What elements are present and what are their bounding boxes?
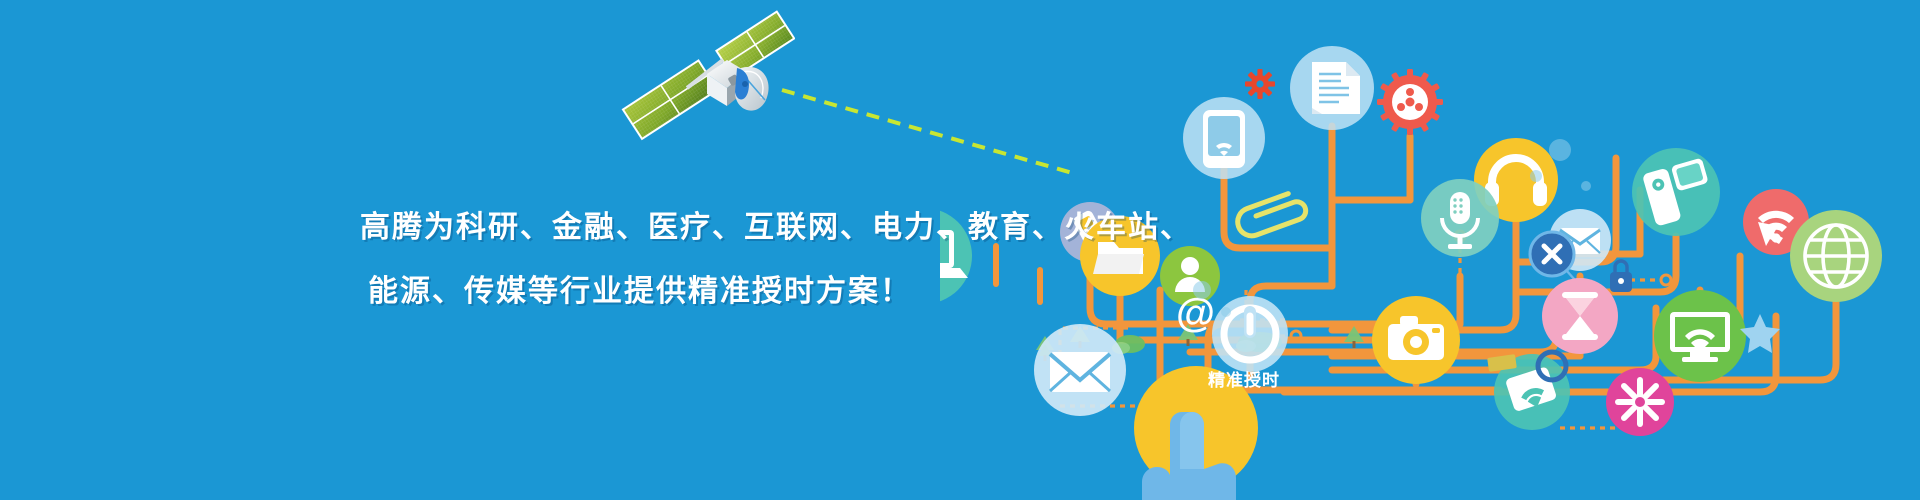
document-icon [1290,46,1374,130]
solar-panel-left [622,59,719,140]
promo-banner: 高腾为科研、金融、医疗、互联网、电力、教育、火车站、 能源、传媒等行业提供精准授… [0,0,1920,500]
snowflake-icon [1606,368,1674,436]
svg-text:@: @ [1176,291,1215,335]
signal-beam-dashed [780,88,1080,178]
camera-icon [1372,296,1460,384]
lock-icon [1610,261,1632,292]
mail-send-icon [1034,324,1126,416]
microphone-icon [1421,179,1499,257]
gear-icon [1245,69,1275,99]
folder-icon [1080,216,1160,296]
hourglass-icon [1542,278,1618,354]
mp3-player-icon [1632,148,1720,236]
dish-antenna [735,67,769,111]
icon-network-tree: .conn { stroke:#f2963c; stroke-width:7; … [940,40,1900,500]
film-reel-icon [1377,69,1443,135]
tablet-wifi-icon [1183,97,1265,179]
power-icon [1212,296,1288,372]
satellite-graphic [615,10,795,150]
at-sign-icon: @ [1176,291,1215,335]
monitor-wifi-icon [1654,290,1746,382]
globe-grid-icon [1790,210,1882,302]
laptop-wifi-icon [940,208,972,304]
paperclip-icon [1234,190,1308,240]
